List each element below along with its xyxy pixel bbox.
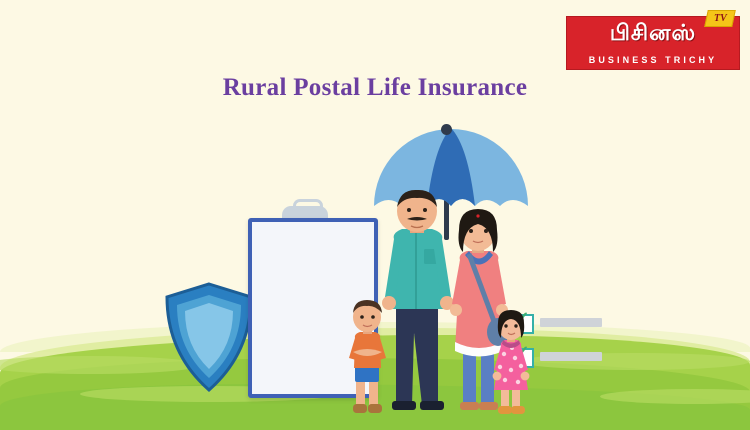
umbrella-finial	[441, 124, 452, 135]
daughter-figure	[489, 312, 533, 420]
page-title: Rural Postal Life Insurance	[0, 74, 750, 102]
illustration-canvas: Rural Postal Life Insurance பிசினஸ் BUSI…	[0, 0, 750, 430]
son-figure	[345, 302, 391, 420]
protection-shield-icon	[163, 281, 255, 393]
logo-tv-badge-text: TV	[714, 13, 727, 24]
checklist-text-placeholder	[540, 352, 602, 361]
logo-tv-badge: TV	[704, 10, 736, 27]
logo-english-text: BUSINESS TRICHY	[567, 55, 739, 65]
channel-logo: பிசினஸ் BUSINESS TRICHY TV	[566, 6, 738, 76]
checklist-text-placeholder	[540, 318, 602, 327]
